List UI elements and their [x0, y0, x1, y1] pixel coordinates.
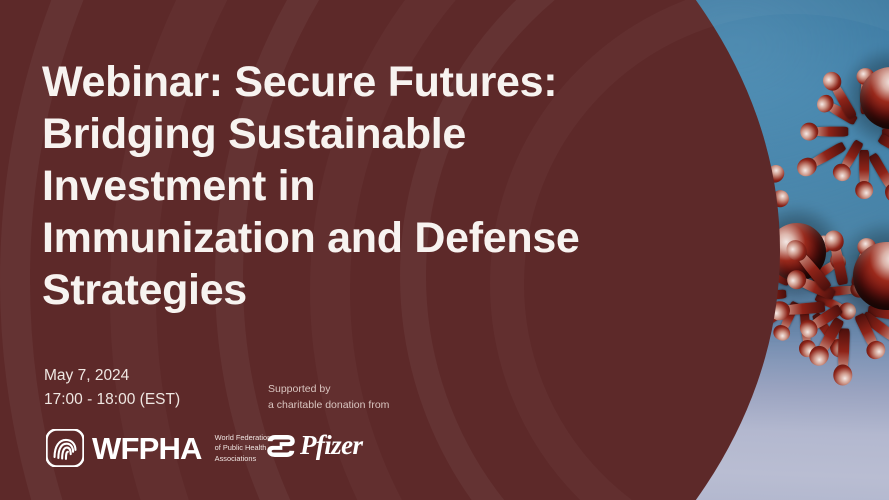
- event-schedule: May 7, 2024 17:00 - 18:00 (EST): [44, 364, 180, 412]
- webinar-promo-banner: Webinar: Secure Futures: Bridging Sustai…: [0, 0, 889, 500]
- wfpha-logo: WFPHA World Federation of Public Health …: [46, 429, 271, 467]
- wfpha-tagline-line3: Associations: [215, 454, 272, 465]
- page-title: Webinar: Secure Futures: Bridging Sustai…: [42, 56, 587, 316]
- event-time: 17:00 - 18:00 (EST): [44, 388, 180, 412]
- fingerprint-icon: [46, 429, 84, 467]
- wfpha-tagline: World Federation of Public Health Associ…: [215, 433, 272, 465]
- event-date: May 7, 2024: [44, 364, 180, 388]
- pfizer-wordmark: Pfizer: [300, 432, 362, 459]
- sponsor-note-line2: a charitable donation from: [268, 397, 389, 413]
- wfpha-wordmark: WFPHA: [92, 433, 202, 464]
- sponsor-note-line1: Supported by: [268, 381, 389, 397]
- wfpha-tagline-line1: World Federation: [215, 433, 272, 444]
- banner-content: Webinar: Secure Futures: Bridging Sustai…: [0, 0, 889, 500]
- sponsor-note: Supported by a charitable donation from: [268, 381, 389, 414]
- pfizer-helix-icon: [266, 433, 296, 459]
- pfizer-logo: Pfizer: [266, 432, 362, 459]
- wfpha-tagline-line2: of Public Health: [215, 443, 272, 454]
